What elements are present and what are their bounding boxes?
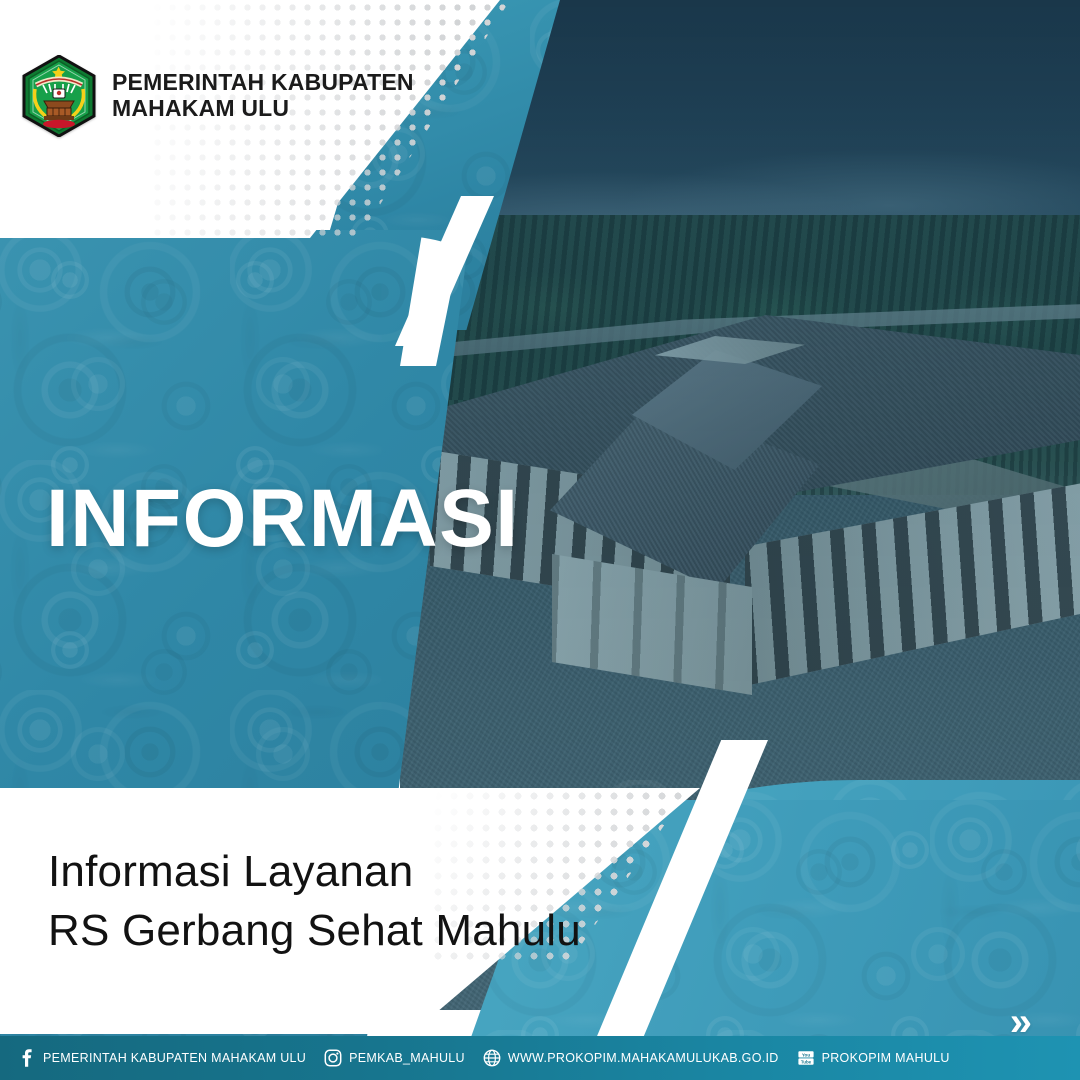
- website-icon: [483, 1049, 501, 1067]
- caption-line-1: Informasi Layanan: [48, 847, 413, 896]
- footer-social-bar: PEMERINTAH KABUPATEN MAHAKAM ULU PEMKAB_…: [0, 1036, 1080, 1080]
- footer-label-website: WWW.PROKOPIM.MAHAKAMULUKAB.GO.ID: [508, 1051, 779, 1065]
- caption-line-2: RS Gerbang Sehat Mahulu: [48, 902, 581, 961]
- svg-text:You: You: [801, 1052, 810, 1057]
- footer-item-youtube[interactable]: You Tube PROKOPIM MAHULU: [797, 1049, 950, 1067]
- footer-label-instagram: PEMKAB_MAHULU: [349, 1051, 465, 1065]
- footer-item-instagram[interactable]: PEMKAB_MAHULU: [324, 1049, 465, 1067]
- caption-text-block: Informasi Layanan RS Gerbang Sehat Mahul…: [48, 843, 581, 960]
- mahakam-ulu-regency-crest-icon: [22, 55, 96, 137]
- org-name-line1: PEMERINTAH KABUPATEN: [112, 69, 414, 95]
- footer-item-facebook[interactable]: PEMERINTAH KABUPATEN MAHAKAM ULU: [18, 1049, 306, 1067]
- footer-label-facebook: PEMERINTAH KABUPATEN MAHAKAM ULU: [43, 1051, 306, 1065]
- facebook-icon: [18, 1049, 36, 1067]
- svg-text:Tube: Tube: [801, 1059, 812, 1064]
- org-name-line2: MAHAKAM ULU: [112, 96, 414, 122]
- hero-title: INFORMASI: [46, 478, 520, 560]
- footer-label-youtube: PROKOPIM MAHULU: [822, 1051, 950, 1065]
- instagram-icon: [324, 1049, 342, 1067]
- poster-canvas: PEMERINTAH KABUPATEN MAHAKAM ULU INFORMA…: [0, 0, 1080, 1080]
- youtube-icon: You Tube: [797, 1049, 815, 1067]
- brand-text-block: PEMERINTAH KABUPATEN MAHAKAM ULU: [112, 70, 414, 122]
- footer-item-website[interactable]: WWW.PROKOPIM.MAHAKAMULUKAB.GO.ID: [483, 1049, 779, 1067]
- brand-lockup: PEMERINTAH KABUPATEN MAHAKAM ULU: [22, 55, 414, 137]
